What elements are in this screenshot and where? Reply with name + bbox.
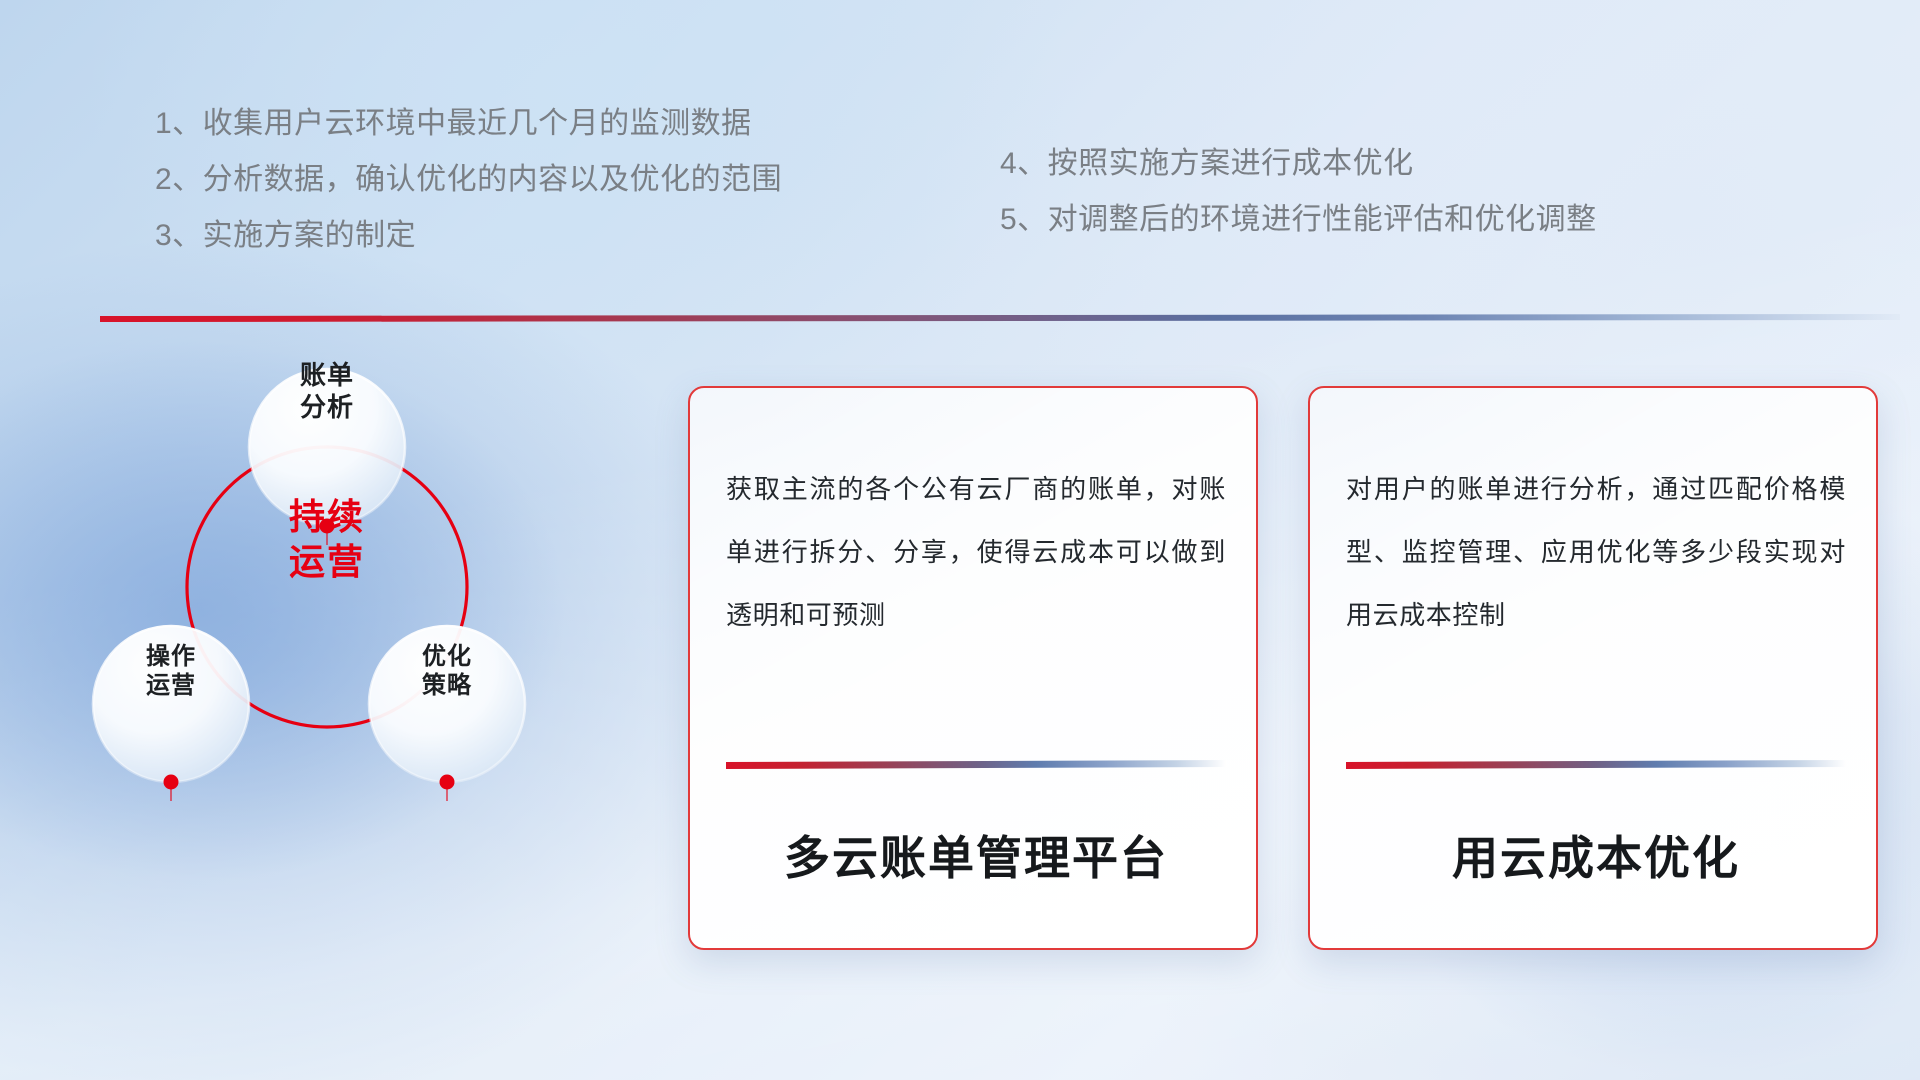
venn-diagram: 持续 运营 账单 分析 操作 运营 优化 策略 xyxy=(90,352,560,852)
step-item: 1、收集用户云环境中最近几个月的监测数据 xyxy=(155,96,782,152)
card-title: 多云账单管理平台 xyxy=(726,822,1226,888)
card-divider-rule xyxy=(1346,760,1846,769)
card-divider-rule xyxy=(726,760,1226,769)
card-multicloud-billing-platform[interactable]: 获取主流的各个公有云厂商的账单，对账单进行拆分、分享，使得云成本可以做到透明和可… xyxy=(688,386,1258,950)
step-item: 3、实施方案的制定 xyxy=(155,208,782,264)
venn-diagram-graphic xyxy=(90,352,560,852)
steps-list: 1、收集用户云环境中最近几个月的监测数据 2、分析数据，确认优化的内容以及优化的… xyxy=(0,96,1920,256)
venn-node-dot-bottom-left xyxy=(164,775,179,790)
steps-column-right: 4、按照实施方案进行成本优化 5、对调整后的环境进行性能评估和优化调整 xyxy=(1000,136,1597,248)
card-cloud-cost-optimization[interactable]: 对用户的账单进行分析，通过匹配价格模型、监控管理、应用优化等多少段实现对用云成本… xyxy=(1308,386,1878,950)
card-body-text: 对用户的账单进行分析，通过匹配价格模型、监控管理、应用优化等多少段实现对用云成本… xyxy=(1346,458,1846,647)
card-title: 用云成本优化 xyxy=(1346,822,1846,888)
step-item: 5、对调整后的环境进行性能评估和优化调整 xyxy=(1000,192,1597,248)
steps-column-left: 1、收集用户云环境中最近几个月的监测数据 2、分析数据，确认优化的内容以及优化的… xyxy=(155,96,782,264)
venn-center-label: 持续 运营 xyxy=(242,494,412,584)
card-body-text: 获取主流的各个公有云厂商的账单，对账单进行拆分、分享，使得云成本可以做到透明和可… xyxy=(726,458,1226,647)
venn-top-label: 账单 分析 xyxy=(270,360,384,423)
venn-bottom-left-label: 操作 运营 xyxy=(114,642,228,701)
step-item: 2、分析数据，确认优化的内容以及优化的范围 xyxy=(155,152,782,208)
step-item: 4、按照实施方案进行成本优化 xyxy=(1000,136,1597,192)
venn-bottom-right-label: 优化 策略 xyxy=(390,642,504,701)
venn-node-dot-bottom-right xyxy=(440,775,455,790)
